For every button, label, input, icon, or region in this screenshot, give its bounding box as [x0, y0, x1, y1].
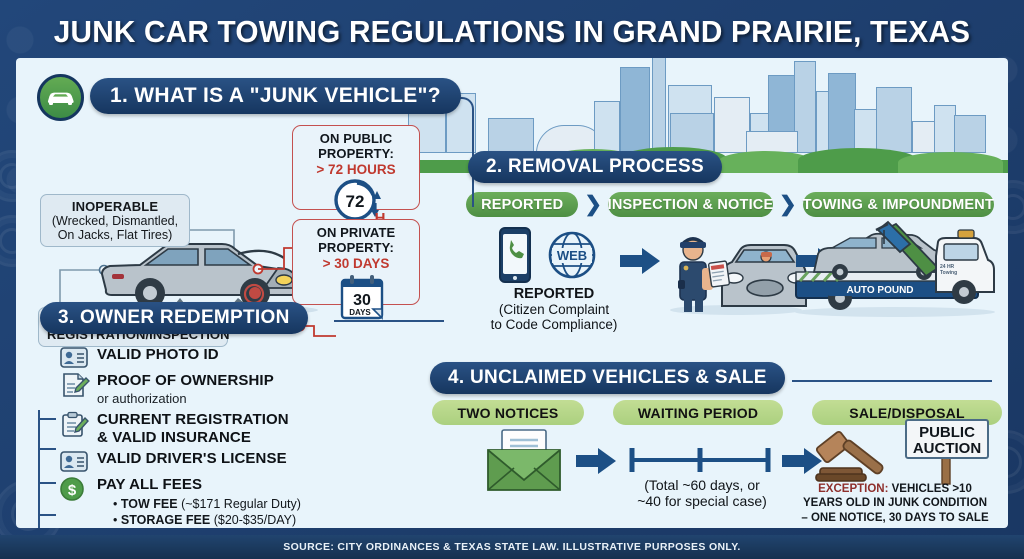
chevron-right-icon: ❯: [779, 194, 797, 215]
waiting-period-note: (Total ~60 days, or ~40 for special case…: [612, 478, 792, 510]
list-item-label: PAY ALL FEES: [97, 476, 202, 493]
fee-detail: ($20-$35/DAY): [214, 513, 296, 527]
list-item-pay-all-fees[interactable]: $ PAY ALL FEES • TOW FEE (~$171 Regular …: [60, 476, 390, 528]
step-pill-inspection[interactable]: INSPECTION & NOTICE: [608, 192, 773, 217]
section-4-heading: 4. UNCLAIMED VEHICLES & SALE: [430, 362, 785, 394]
svg-text:Towing: Towing: [940, 270, 957, 276]
fee-name: STORAGE FEE: [121, 513, 210, 527]
section-2-heading: 2. REMOVAL PROCESS: [468, 151, 722, 183]
list-item-label: PROOF OF OWNERSHIP: [97, 372, 274, 389]
envelope-icon: [484, 428, 564, 494]
calendar-icon: 30 DAYS: [299, 271, 425, 321]
exception-note: EXCEPTION: VEHICLES >10 YEARS OLD IN JUN…: [788, 482, 1002, 525]
fee-row: • STORAGE FEE ($20-$35/DAY): [113, 512, 301, 528]
auto-pound-label: AUTO POUND: [846, 285, 913, 296]
gavel-icon: [814, 424, 906, 484]
id-card-icon: [60, 451, 88, 473]
rule-private-label: ON PRIVATE PROPERTY:: [299, 225, 413, 255]
rule-private-value: > 30 DAYS: [299, 256, 413, 271]
fee-list: • TOW FEE (~$171 Regular Duty) • STORAGE…: [113, 496, 301, 528]
section-1-heading: 1. WHAT IS A "JUNK VEHICLE"?: [90, 78, 461, 114]
page-title: JUNK CAR TOWING REGULATIONS IN GRAND PRA…: [20, 8, 1003, 56]
rule-public-property: ON PUBLIC PROPERTY: > 72 HOURS 72 H: [292, 125, 420, 210]
list-item-registration-insurance[interactable]: CURRENT REGISTRATION & VALID INSURANCE: [60, 411, 390, 447]
reported-caption-title: REPORTED: [478, 286, 630, 302]
step-pill-two-notices[interactable]: TWO NOTICES: [432, 400, 584, 425]
clock-icon: 72 H: [299, 175, 425, 225]
public-auction-sign-icon: PUBLIC AUCTION: [904, 418, 994, 484]
fee-row: • TOW FEE (~$171 Regular Duty): [113, 496, 301, 512]
section-2-steps: REPORTED ❯ INSPECTION & NOTICE ❯ TOWING …: [466, 192, 994, 217]
list-item-photo-id[interactable]: VALID PHOTO ID: [60, 346, 390, 369]
list-item-label-2: & VALID INSURANCE: [97, 429, 251, 446]
infographic-poster: JUNK CAR TOWING REGULATIONS IN GRAND PRA…: [0, 0, 1024, 559]
junk-vehicle-badge-icon: [37, 74, 84, 121]
list-item-label: CURRENT REGISTRATION: [97, 411, 289, 428]
svg-text:72: 72: [346, 192, 365, 211]
callout-inoperable-detail: (Wrecked, Dismantled, On Jacks, Flat Tir…: [49, 214, 181, 242]
id-card-icon: [60, 347, 88, 369]
callout-inoperable-title: INOPERABLE: [49, 199, 181, 214]
clipboard-pen-icon: [60, 412, 88, 434]
chevron-right-icon: ❯: [584, 194, 602, 215]
owner-redemption-list: VALID PHOTO ID PROOF OF OWNERSHIP or aut…: [60, 346, 390, 528]
callout-inoperable: INOPERABLE (Wrecked, Dismantled, On Jack…: [40, 194, 190, 247]
timeline-icon: [626, 444, 774, 476]
infographic-canvas: 1. WHAT IS A "JUNK VEHICLE"? INOPERABLE …: [16, 58, 1008, 528]
reported-caption: REPORTED (Citizen Complaint to Code Comp…: [478, 286, 630, 333]
svg-text:$: $: [68, 482, 77, 499]
list-item-proof-of-ownership[interactable]: PROOF OF OWNERSHIP or authorization: [60, 372, 390, 408]
officer-inspection-illustration: [666, 218, 806, 314]
list-bracket: [38, 410, 56, 528]
fee-detail: (~$171 Regular Duty): [181, 497, 301, 511]
arrow-right-icon: [576, 446, 618, 476]
step-pill-towing[interactable]: TOWING & IMPOUNDMENT: [803, 192, 994, 217]
auction-sign-line2: AUCTION: [913, 440, 981, 457]
footer-source: SOURCE: CITY ORDINANCES & TEXAS STATE LA…: [0, 535, 1024, 559]
fee-name: TOW FEE: [121, 497, 178, 511]
rule-public-label: ON PUBLIC PROPERTY:: [299, 131, 413, 161]
svg-text:DAYS: DAYS: [349, 308, 371, 317]
tow-truck-illustration: 24 HR Towing AUTO POUND: [788, 216, 1002, 320]
step-pill-waiting-period[interactable]: WAITING PERIOD: [613, 400, 783, 425]
connector-line: [792, 380, 992, 382]
arrow-right-icon: [620, 246, 662, 276]
list-item-label: VALID PHOTO ID: [97, 346, 219, 363]
exception-label: EXCEPTION:: [818, 483, 888, 495]
list-item-drivers-license[interactable]: VALID DRIVER'S LICENSE: [60, 450, 390, 473]
exception-line2: YEARS OLD IN JUNK CONDITION: [803, 497, 987, 509]
reported-caption-sub: (Citizen Complaint to Code Compliance): [478, 302, 630, 333]
exception-line1: VEHICLES >10: [888, 483, 971, 495]
svg-text:WEB: WEB: [557, 248, 587, 263]
step-pill-reported[interactable]: REPORTED: [466, 192, 578, 217]
exception-line3: – ONE NOTICE, 30 DAYS TO SALE: [801, 512, 988, 524]
rule-private-property: ON PRIVATE PROPERTY: > 30 DAYS 30 DAYS: [292, 219, 420, 305]
section-3-heading: 3. OWNER REDEMPTION: [40, 302, 308, 334]
document-pen-icon: [60, 373, 88, 395]
phone-web-icon: WEB: [494, 226, 614, 288]
list-item-label: VALID DRIVER'S LICENSE: [97, 450, 287, 467]
svg-text:30: 30: [353, 292, 371, 309]
list-item-sublabel: or authorization: [97, 391, 187, 406]
auction-sign-line1: PUBLIC: [919, 424, 975, 441]
dollar-coin-icon: $: [60, 477, 88, 499]
waiting-period-note-text: (Total ~60 days, or ~40 for special case…: [612, 478, 792, 510]
